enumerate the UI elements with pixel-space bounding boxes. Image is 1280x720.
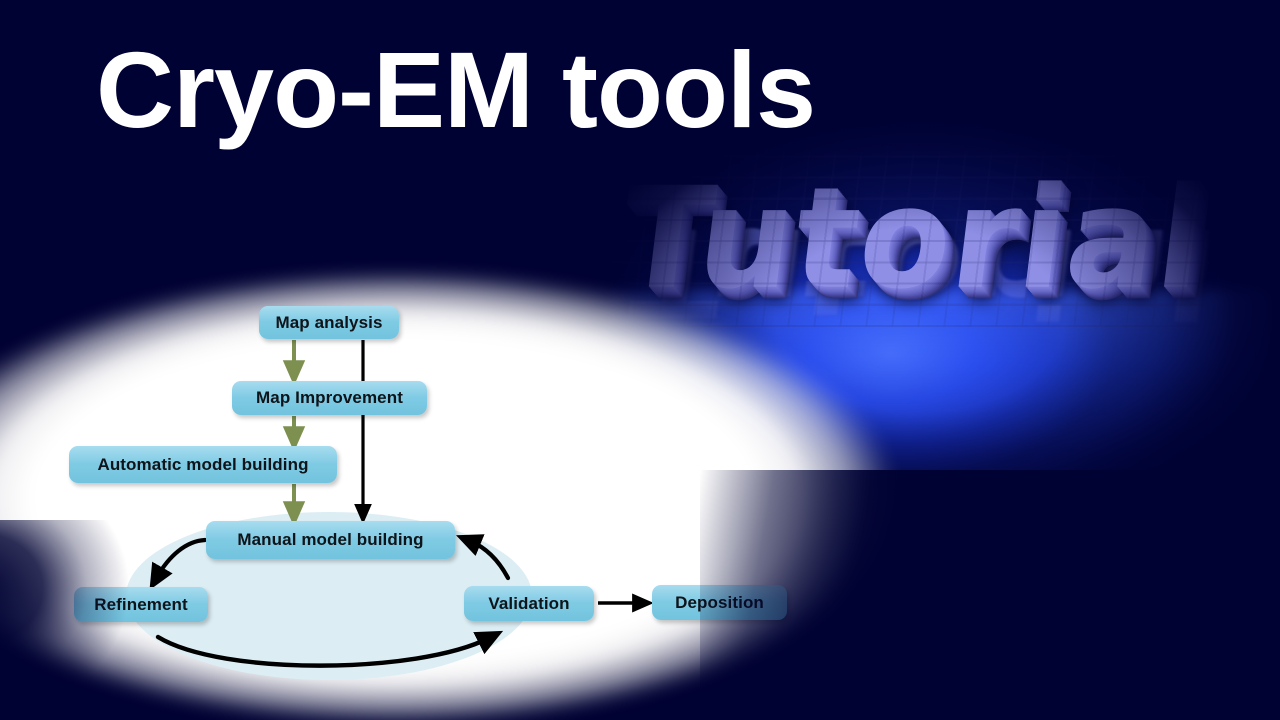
node-label: Map analysis [275,313,382,333]
node-label: Automatic model building [97,455,308,475]
node-validation[interactable]: Validation [464,586,594,621]
node-map-improvement[interactable]: Map Improvement [232,381,427,415]
node-label: Validation [488,594,569,614]
node-label: Manual model building [237,530,423,550]
node-map-analysis[interactable]: Map analysis [259,306,399,339]
page-title: Cryo-EM tools [96,33,815,146]
left-edge-vignette [0,520,160,720]
node-automatic-model-building[interactable]: Automatic model building [69,446,337,483]
node-manual-model-building[interactable]: Manual model building [206,521,455,559]
node-label: Map Improvement [256,388,403,408]
right-edge-vignette [700,470,1280,720]
slide-root: Tutorial Tutorial [0,0,1280,720]
